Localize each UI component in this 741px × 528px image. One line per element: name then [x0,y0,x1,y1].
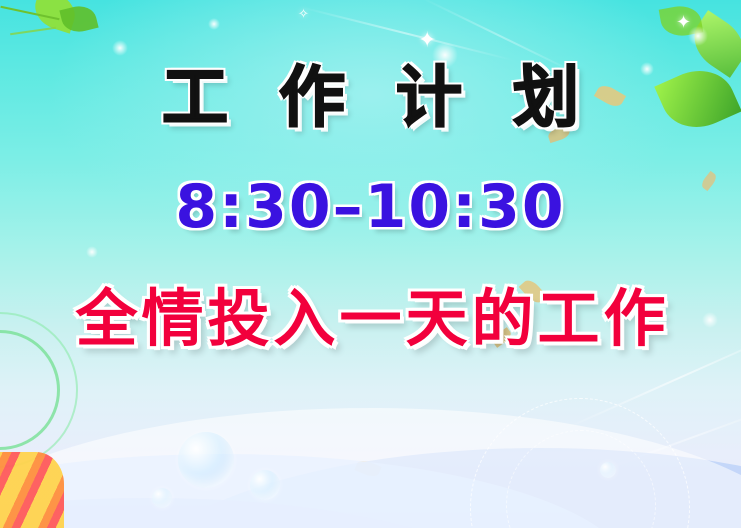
poster-canvas: ✦ ✦ ✧ ✧ 工 作 计 划 8:30–10:30 全情投入一天的工作 [0,0,741,528]
page-title: 工 作 计 划 [148,62,593,135]
time-range-text: 8:30–10:30 [175,177,565,237]
poster-content: 工 作 计 划 8:30–10:30 全情投入一天的工作 [0,0,741,528]
slogan-text: 全情投入一天的工作 [71,285,669,353]
